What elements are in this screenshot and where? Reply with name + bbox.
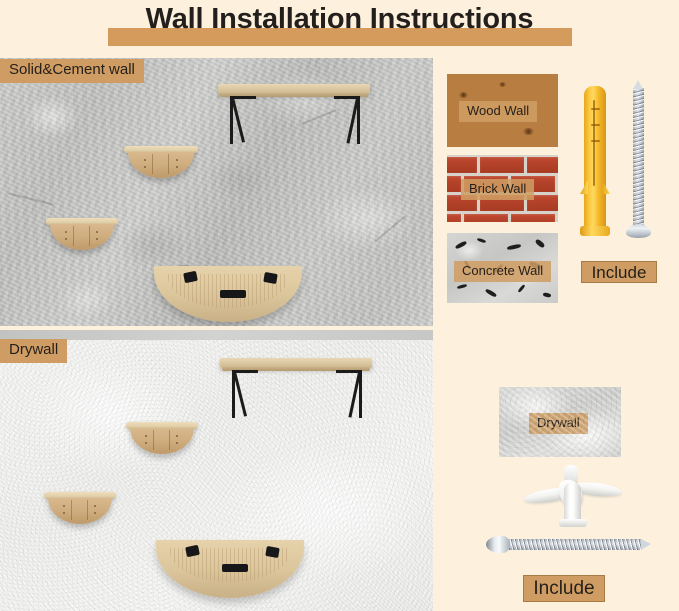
swatch-caption-drywall: Drywall (529, 413, 588, 434)
perch-hole (94, 512, 96, 514)
perch-hole (144, 166, 146, 168)
perch-seam (89, 226, 90, 246)
brick (527, 157, 558, 173)
perch-hole (176, 435, 178, 437)
perch-seam (168, 154, 169, 174)
anchor-rib (591, 124, 600, 126)
screw-head (626, 224, 651, 238)
perch-half-moon-body (48, 498, 112, 524)
screw-shaft (633, 88, 644, 236)
instruction-sheet: Wall Installation Instructions (0, 0, 679, 611)
cat-perch-lower (46, 218, 118, 252)
drywall-photo: Drywall (0, 330, 433, 611)
cat-perch-upper (124, 146, 198, 180)
shelf-bracket-diagonal (233, 371, 247, 416)
white-toggle-anchor (524, 465, 622, 527)
wall-type-swatch-concrete: Concrete Wall (447, 233, 558, 303)
concrete-speck (457, 284, 467, 289)
cat-perch-lower (44, 492, 116, 526)
perch-hole (94, 505, 96, 507)
page-title: Wall Installation Instructions (0, 3, 679, 36)
include-badge-drywall: Include (523, 575, 605, 602)
brick (447, 157, 477, 173)
swatch-caption-wood: Wood Wall (459, 101, 537, 122)
concrete-speck (517, 284, 525, 293)
anchor-flange (559, 519, 587, 527)
perch-seam (153, 430, 154, 450)
perch-hole (176, 166, 178, 168)
perch-hole (65, 231, 67, 233)
perch-seam (73, 226, 74, 246)
perch-hole (63, 505, 65, 507)
screw-shaft (500, 539, 642, 550)
anchor-collar (580, 226, 610, 236)
swatch-caption-brick: Brick Wall (461, 179, 534, 200)
page-title-area: Wall Installation Instructions (0, 0, 679, 56)
perch-half-moon-body (50, 224, 114, 250)
screw-tip (641, 539, 651, 550)
concrete-speck (507, 244, 522, 251)
brick (511, 214, 555, 222)
perch-hole (145, 435, 147, 437)
screw-tip (633, 80, 643, 89)
cat-hammock-bridge (156, 540, 304, 598)
cat-perch-upper (126, 422, 198, 456)
anchor-expansion-slot (593, 100, 595, 186)
wood-knot (499, 82, 506, 87)
wall-type-swatch-brick: Brick Wall (447, 155, 558, 222)
perch-hole (144, 159, 146, 161)
drywall-hardware-group: Include (500, 465, 670, 605)
anchor-rib (591, 140, 600, 142)
perch-hole (65, 238, 67, 240)
perch-seam (169, 430, 170, 450)
concrete-speck (543, 292, 552, 298)
silver-screw-horizontal (500, 539, 642, 550)
brick (447, 176, 461, 192)
perch-seam (71, 500, 72, 520)
wall-type-swatch-drywall: Drywall (499, 387, 621, 457)
solid-cement-wall-photo: Solid&Cement wall (0, 58, 433, 326)
perch-seam (87, 500, 88, 520)
screw-head (486, 536, 510, 553)
yellow-expansion-anchor (584, 86, 606, 236)
hammock-clip (265, 546, 280, 558)
hammock-clip (222, 564, 248, 572)
brick (464, 214, 508, 222)
panel-label-solid-cement: Solid&Cement wall (0, 59, 144, 83)
perch-hole (176, 442, 178, 444)
wood-knot (459, 92, 468, 98)
panel-label-drywall: Drywall (0, 339, 67, 363)
solid-hardware-group: Include (578, 86, 678, 256)
wood-knot (523, 128, 534, 135)
concrete-speck (455, 240, 467, 249)
perch-hole (96, 238, 98, 240)
perch-hole (176, 159, 178, 161)
concrete-speck (535, 238, 546, 248)
include-badge-solid: Include (581, 261, 657, 283)
cat-hammock-bridge (154, 266, 302, 322)
perch-hole (96, 231, 98, 233)
shelf-bracket-diagonal (231, 97, 245, 142)
perch-hole (145, 442, 147, 444)
swatch-caption-concrete: Concrete Wall (454, 261, 551, 282)
anchor-cone-body (564, 483, 581, 521)
perch-seam (152, 154, 153, 174)
perch-hole (63, 512, 65, 514)
brick (447, 214, 461, 222)
concrete-speck (477, 238, 486, 244)
brick (480, 157, 524, 173)
hammock-clip (220, 290, 246, 298)
perch-half-moon-body (130, 428, 194, 454)
silver-screw-vertical (633, 88, 644, 236)
long-wall-shelf (220, 358, 372, 422)
wall-type-swatch-wood: Wood Wall (447, 74, 558, 147)
anchor-rib (591, 108, 600, 110)
perch-half-moon-body (128, 152, 194, 178)
hammock-clip (263, 272, 278, 284)
long-wall-shelf (218, 84, 370, 148)
concrete-speck (485, 288, 497, 297)
